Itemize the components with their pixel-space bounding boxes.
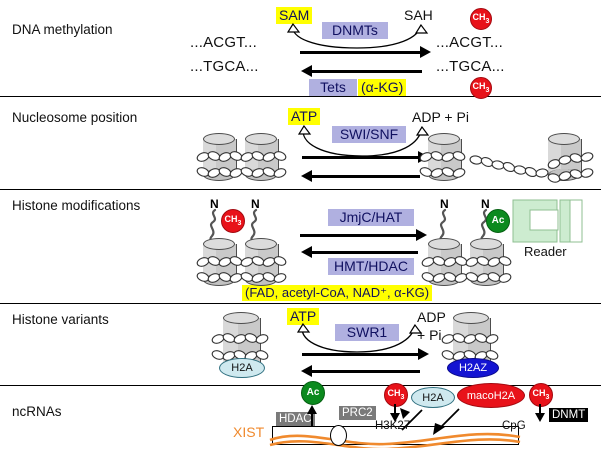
reverse-arrow-line-1 <box>312 70 422 73</box>
forward-arrow-head-4 <box>418 348 429 360</box>
methyl-mark-ncrna-cpg-label: CH <box>533 388 546 398</box>
row-label-dna-methylation: DNA methylation <box>12 22 113 37</box>
reverse-arrow-head-2 <box>301 170 312 182</box>
histone-variant-h2az: H2AZ <box>447 358 499 378</box>
cofactor-sah: SAH <box>404 8 433 23</box>
arrow-dnmt-to-cpg <box>533 404 547 422</box>
reverse-arrow-line-4 <box>312 370 420 373</box>
forward-arrow-line-1 <box>300 51 422 54</box>
methyl-mark-histone-left: CH3 <box>221 209 245 233</box>
methyl-mark-bottom-label: CH <box>473 81 486 91</box>
row-divider-1 <box>0 96 601 97</box>
reader-label: Reader <box>524 245 567 259</box>
acetyl-mark-histone-right: Ac <box>486 209 510 233</box>
cofactor-curve-variants <box>295 322 425 356</box>
reverse-arrow-head-4 <box>301 365 312 377</box>
enzyme-tets: Tets <box>309 79 357 96</box>
xist-rna-strand <box>264 420 526 448</box>
centromere <box>330 425 347 446</box>
methyl-mark-ncrna-cpg-sub: 3 <box>546 394 550 401</box>
methyl-mark-histone-left-sub: 3 <box>238 220 242 227</box>
forward-arrow-line-3 <box>300 234 418 237</box>
row-label-histone-variants: Histone variants <box>12 312 109 327</box>
cofactor-curve-nucleosome <box>296 124 431 160</box>
acetyl-mark-ncrna-label: Ac <box>307 388 320 398</box>
cofactor-curve-methylation <box>285 22 430 52</box>
enzyme-jmjc-hat: JmjC/HAT <box>328 209 414 226</box>
dna-left-strand-top: ...ACGT... <box>190 34 257 51</box>
row-label-nucleosome-position: Nucleosome position <box>12 110 137 125</box>
reader-icon <box>512 198 588 246</box>
histone-variant-h2a: H2A <box>219 358 265 378</box>
cofactor-atp-nucleosome: ATP <box>288 108 320 125</box>
acetyl-mark-histone-right-label: Ac <box>492 216 505 226</box>
histone-variant-h2a-ncrna: H2A <box>411 387 455 408</box>
forward-arrow-head-1 <box>420 46 431 58</box>
histone-variant-macoh2a: macoH2A <box>457 383 525 408</box>
dna-wrap-histonemod-left <box>195 245 295 287</box>
reverse-arrow-line-2 <box>312 175 420 178</box>
row-divider-2 <box>0 189 601 190</box>
dna-wrap-right-nucleosomes <box>418 140 598 188</box>
reverse-arrow-head-3 <box>301 246 312 258</box>
row-label-histone-modifications: Histone modifications <box>12 198 140 213</box>
methyl-mark-ncrna-h3k27-label: CH <box>388 388 401 398</box>
dna-left-strand-bottom: ...TGCA... <box>190 58 259 75</box>
factor-tag-dnmt: DNMT <box>549 408 588 422</box>
forward-arrow-head-3 <box>416 229 427 241</box>
row-label-ncrnas: ncRNAs <box>12 404 62 419</box>
cofactor-adp-nucleosome: ADP + Pi <box>412 110 469 125</box>
cofactor-akg-methylation: (α-KG) <box>358 79 406 96</box>
dna-right-strand-bottom: ...TGCA... <box>436 58 505 75</box>
reverse-arrow-line-3 <box>312 251 418 254</box>
methyl-mark-ncrna-h3k27-sub: 3 <box>401 394 405 401</box>
methyl-mark-histone-left-label: CH <box>225 214 238 224</box>
enzyme-hmt-hdac: HMT/HDAC <box>328 258 414 275</box>
dna-wrap-left-nucleosomes <box>195 140 295 182</box>
factor-tag-prc2: PRC2 <box>339 406 376 420</box>
methyl-mark-bottom: CH3 <box>470 77 492 99</box>
acetyl-mark-ncrna: Ac <box>301 381 325 405</box>
forward-arrow-line-2 <box>302 156 420 159</box>
methyl-mark-top-sub: 3 <box>486 18 490 25</box>
reverse-arrow-head-1 <box>301 65 312 77</box>
row-divider-3 <box>0 303 601 304</box>
cofactor-box-histone-mods: (FAD, acetyl-CoA, NAD⁺, α-KG) <box>242 285 432 301</box>
methyl-mark-top-label: CH <box>473 12 486 22</box>
dna-right-strand-top: ...ACGT... <box>436 34 503 51</box>
forward-arrow-line-4 <box>302 353 420 356</box>
xist-label: XIST <box>233 424 264 440</box>
methyl-mark-top: CH3 <box>470 8 492 30</box>
dna-wrap-histonemod-right <box>420 245 520 287</box>
methyl-mark-bottom-sub: 3 <box>486 87 490 94</box>
figure-canvas: DNA methylation ...ACGT... ...TGCA... ..… <box>0 0 601 454</box>
